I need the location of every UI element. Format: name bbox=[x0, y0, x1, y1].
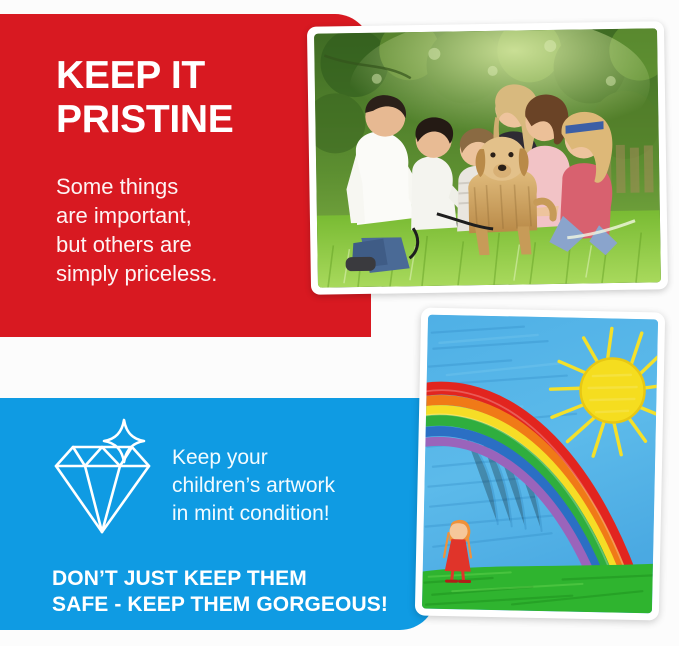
blue-panel-copy: Keep your children’s artwork in mint con… bbox=[172, 444, 432, 528]
promo-graphic: KEEP IT PRISTINE Some things are importa… bbox=[0, 0, 679, 646]
family-photo-card bbox=[307, 21, 668, 295]
childrens-rainbow-drawing bbox=[422, 315, 658, 614]
artwork-photo-card bbox=[415, 307, 665, 620]
diamond-sparkle-icon bbox=[52, 418, 154, 538]
family-dog-photo bbox=[314, 28, 661, 287]
blue-panel-tagline: DON’T JUST KEEP THEM SAFE - KEEP THEM GO… bbox=[52, 566, 432, 618]
blue-copy-line-2: children’s artwork bbox=[172, 472, 432, 500]
blue-copy-line-3: in mint condition! bbox=[172, 500, 432, 528]
tagline-line-1: DON’T JUST KEEP THEM bbox=[52, 566, 432, 592]
blue-copy-line-1: Keep your bbox=[172, 444, 432, 472]
tagline-line-2: SAFE - KEEP THEM GORGEOUS! bbox=[52, 592, 432, 618]
